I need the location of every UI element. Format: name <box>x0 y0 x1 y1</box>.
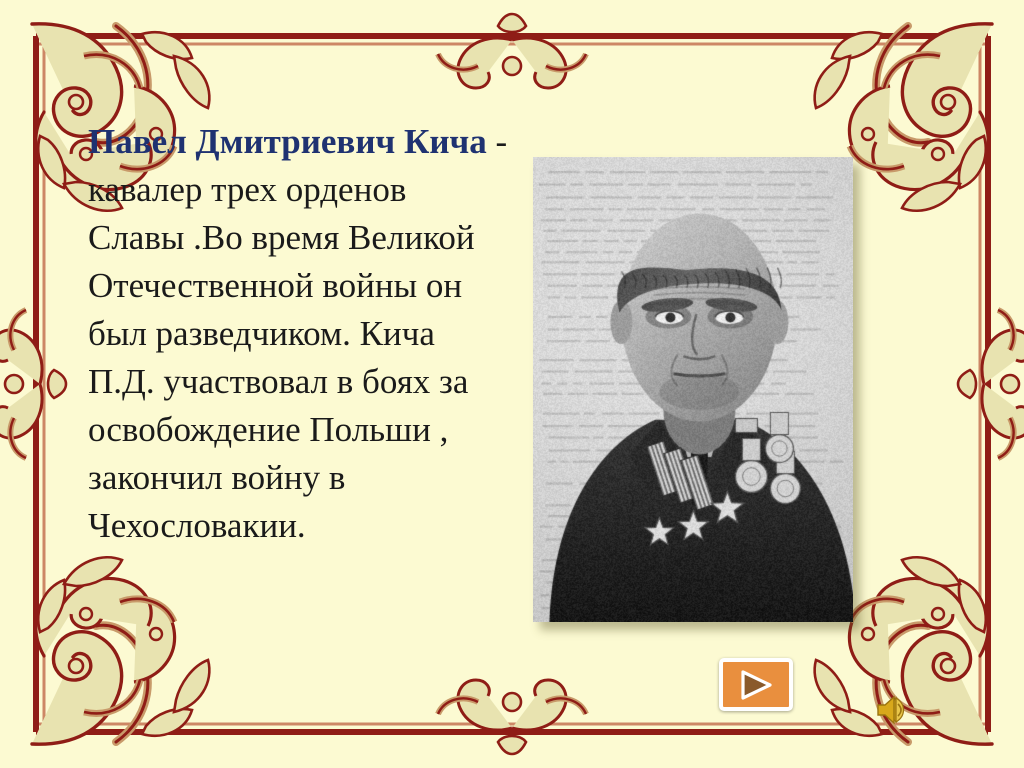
biography-body: - кавалер трех орденов Славы .Во время В… <box>88 122 507 545</box>
portrait-photo-image <box>533 157 853 622</box>
biography-paragraph: Павел Дмитриевич Кича - кавалер трех орд… <box>88 118 508 550</box>
edge-flourish-left <box>0 310 66 458</box>
corner-ornament-bottom-left <box>32 557 209 744</box>
edge-flourish-right <box>958 310 1024 458</box>
edge-flourish-top <box>438 14 586 88</box>
person-name: Павел Дмитриевич Кича <box>88 122 487 161</box>
play-button[interactable] <box>719 658 793 711</box>
speaker-icon <box>876 694 910 726</box>
edge-flourish-bottom <box>438 680 586 754</box>
portrait-photo <box>533 157 853 622</box>
play-triangle-icon <box>738 669 774 701</box>
slide-canvas: Павел Дмитриевич Кича - кавалер трех орд… <box>0 0 1024 768</box>
speaker-button[interactable] <box>876 694 910 726</box>
biography-text-block: Павел Дмитриевич Кича - кавалер трех орд… <box>88 118 508 550</box>
